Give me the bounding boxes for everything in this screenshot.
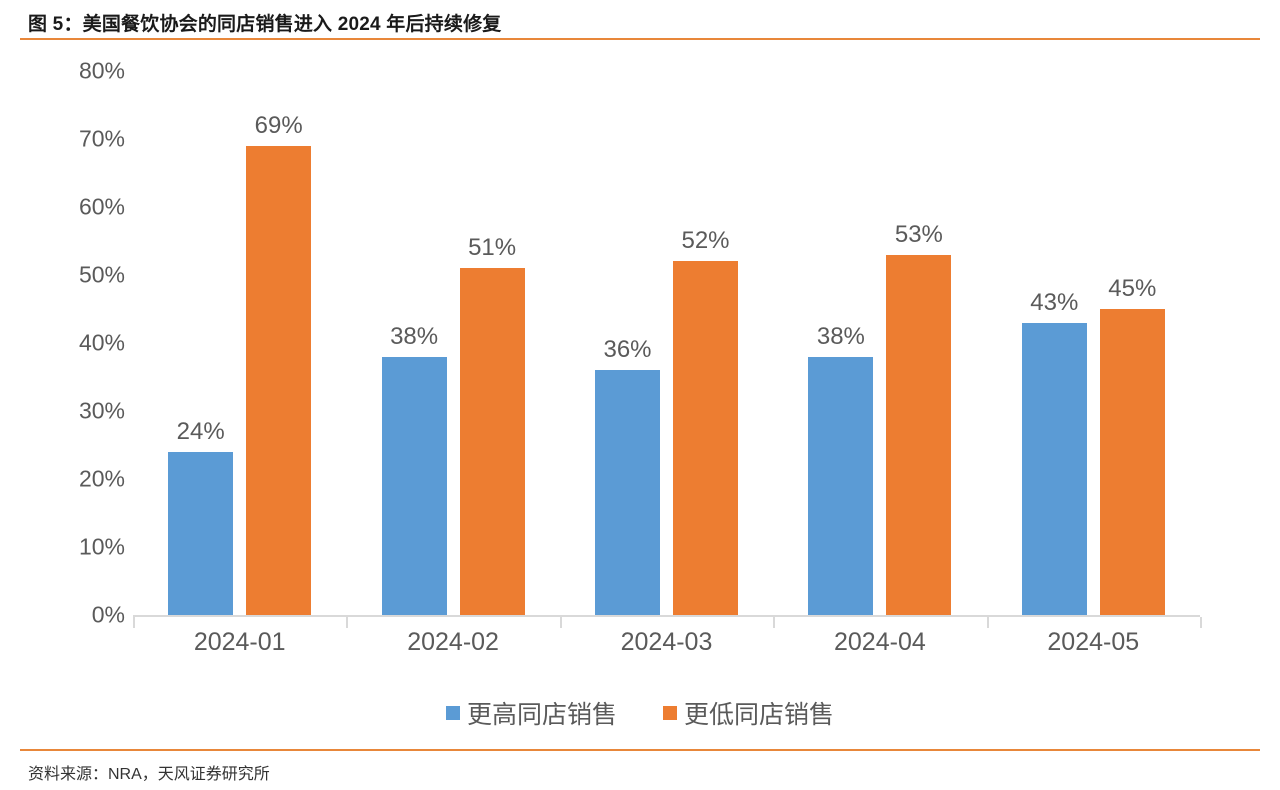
- bar-2024-04-更高同店销售[interactable]: [808, 357, 873, 615]
- bar-value-label: 52%: [655, 227, 756, 255]
- y-axis-tick-label: 70%: [53, 126, 125, 153]
- bar-2024-01-更低同店销售[interactable]: [246, 146, 311, 615]
- bar-value-label: 69%: [228, 112, 329, 140]
- footer-divider: [20, 749, 1260, 751]
- legend-item-series-a[interactable]: 更高同店销售: [446, 695, 617, 731]
- bar-value-label: 36%: [577, 336, 678, 364]
- legend-item-series-b[interactable]: 更低同店销售: [663, 695, 834, 731]
- x-axis-tick: [346, 617, 348, 628]
- x-axis-label-2024-01: 2024-01: [133, 628, 346, 657]
- legend-swatch-icon: [446, 706, 460, 720]
- bar-2024-03-更高同店销售[interactable]: [595, 370, 660, 615]
- x-axis-label-2024-03: 2024-03: [560, 628, 773, 657]
- y-axis-tick-label: 80%: [53, 58, 125, 85]
- figure-title: 图 5：美国餐饮协会的同店销售进入 2024 年后持续修复: [28, 9, 501, 36]
- bar-2024-05-更低同店销售[interactable]: [1100, 309, 1165, 615]
- legend-swatch-icon: [663, 706, 677, 720]
- x-axis-line: [133, 615, 1200, 617]
- y-axis-tick-label: 30%: [53, 398, 125, 425]
- legend-label: 更高同店销售: [467, 695, 617, 731]
- x-axis-tick: [987, 617, 989, 628]
- bar-value-label: 45%: [1082, 275, 1183, 303]
- x-axis-label-2024-04: 2024-04: [773, 628, 986, 657]
- bar-value-label: 51%: [442, 234, 543, 262]
- x-axis-tick: [133, 617, 135, 628]
- bar-2024-03-更低同店销售[interactable]: [673, 261, 738, 615]
- bar-2024-01-更高同店销售[interactable]: [168, 452, 233, 615]
- chart-canvas: 0%10%20%30%40%50%60%70%80% 2024-012024-0…: [0, 40, 1280, 740]
- bar-value-label: 38%: [364, 323, 465, 351]
- y-axis-tick-label: 20%: [53, 466, 125, 493]
- source-note: 资料来源：NRA，天风证券研究所: [28, 760, 270, 784]
- bar-2024-02-更低同店销售[interactable]: [460, 268, 525, 615]
- y-axis-tick-label: 10%: [53, 534, 125, 561]
- bar-2024-05-更高同店销售[interactable]: [1022, 323, 1087, 615]
- x-axis-tick: [1200, 617, 1202, 628]
- y-axis-tick-label: 50%: [53, 262, 125, 289]
- y-axis-tick-label: 40%: [53, 330, 125, 357]
- bar-value-label: 24%: [150, 418, 251, 446]
- x-axis-tick: [773, 617, 775, 628]
- bar-value-label: 53%: [868, 221, 969, 249]
- x-axis-tick: [560, 617, 562, 628]
- bar-value-label: 38%: [790, 323, 891, 351]
- legend-label: 更低同店销售: [684, 695, 834, 731]
- x-axis-label-2024-02: 2024-02: [346, 628, 559, 657]
- y-axis-tick-label: 0%: [53, 602, 125, 629]
- chart-legend: 更高同店销售更低同店销售: [0, 695, 1280, 731]
- y-axis-tick-labels: 0%10%20%30%40%50%60%70%80%: [45, 40, 125, 740]
- y-axis-tick-label: 60%: [53, 194, 125, 221]
- x-axis-label-2024-05: 2024-05: [987, 628, 1200, 657]
- bar-2024-04-更低同店销售[interactable]: [886, 255, 951, 615]
- bar-2024-02-更高同店销售[interactable]: [382, 357, 447, 615]
